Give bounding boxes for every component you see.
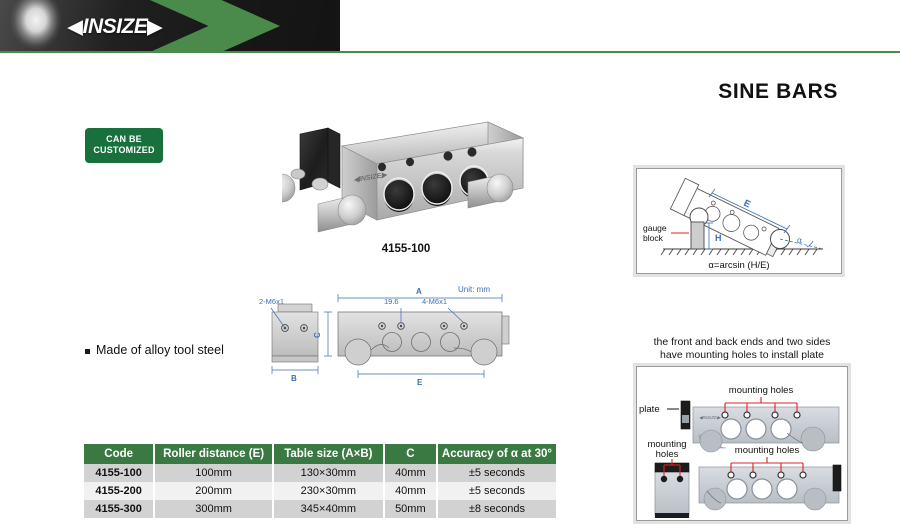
cell-c: 40mm (384, 464, 437, 482)
label-2-m6x1: 2-M6x1 (259, 297, 284, 306)
header-divider-rule (0, 51, 900, 53)
logo-right-arrow-icon: ▶ (147, 18, 162, 37)
label-19-6: 19.6 (384, 297, 399, 306)
product-photo-svg: ◀INSIZE▶ (282, 112, 530, 238)
table-row: 4155-100 100mm 130×30mm 40mm ±5 seconds (84, 464, 556, 482)
column-header-code: Code (84, 444, 154, 464)
cell-accuracy: ±5 seconds (437, 482, 556, 500)
cell-code: 4155-200 (84, 482, 154, 500)
panel-mounting-holes: mounting holes ◀INSIZE▶ plate mounting h… (636, 366, 848, 521)
plate-label: plate (639, 404, 660, 415)
badge-line-1: CAN BE (88, 134, 160, 145)
mounting-label-line2: holes (656, 449, 679, 460)
cell-code: 4155-100 (84, 464, 154, 482)
label-E-incline: E (742, 198, 753, 211)
cell-table-size: 345×40mm (273, 500, 384, 518)
principle-formula: α=arcsin (H/E) (708, 260, 769, 271)
cell-c: 50mm (384, 500, 437, 518)
cell-accuracy: ±5 seconds (437, 464, 556, 482)
technical-drawing: Unit: mm 2-M6x1 B (258, 282, 526, 390)
badge-line-2: CUSTOMIZED (88, 145, 160, 156)
svg-text:◀INSIZE▶: ◀INSIZE▶ (699, 415, 721, 420)
label-4-m6x1: 4-M6x1 (422, 297, 447, 306)
logo-wordmark: INSIZE (83, 15, 148, 39)
table-row: 4155-200 200mm 230×30mm 40mm ±5 seconds (84, 482, 556, 500)
panel-measuring-principle: gauge block H E α α=arcsin (H/E) (636, 168, 842, 274)
cell-c: 40mm (384, 482, 437, 500)
principle-diagram-svg: gauge block H E α α=arcsin (H/E) (637, 169, 841, 273)
mounting-caption-line-1: the front and back ends and two sides (654, 336, 831, 348)
bullet-square-icon (85, 349, 90, 354)
unit-label: Unit: mm (458, 285, 490, 294)
feature-text: Made of alloy tool steel (96, 343, 224, 357)
product-caption: 4155-100 (282, 243, 530, 255)
column-header-roller-distance: Roller distance (E) (154, 444, 273, 464)
page-header: ◀ INSIZE ▶ (0, 0, 900, 52)
label-alpha: α (797, 235, 802, 245)
mounting-caption: the front and back ends and two sides ha… (636, 336, 848, 362)
gauge-block-label-line1: gauge (643, 223, 667, 233)
mounting-caption-line-2: have mounting holes to install plate (660, 349, 824, 361)
label-B: B (291, 374, 297, 383)
specification-table: Code Roller distance (E) Table size (A×B… (84, 444, 556, 518)
gauge-block-label-line2: block (643, 233, 664, 243)
label-C: C (313, 332, 322, 338)
cell-roller-distance: 100mm (154, 464, 273, 482)
cell-table-size: 230×30mm (273, 482, 384, 500)
cell-accuracy: ±8 seconds (437, 500, 556, 518)
table-row: 4155-300 300mm 345×40mm 50mm ±8 seconds (84, 500, 556, 518)
can-be-customized-badge: CAN BE CUSTOMIZED (85, 128, 163, 163)
label-A: A (416, 287, 422, 296)
mounting-holes-label-bottom: mounting holes (735, 445, 800, 456)
cell-table-size: 130×30mm (273, 464, 384, 482)
cell-code: 4155-300 (84, 500, 154, 518)
logo-left-arrow-icon: ◀ (68, 18, 83, 37)
feature-item: Made of alloy tool steel (85, 343, 224, 357)
cell-roller-distance: 300mm (154, 500, 273, 518)
column-header-accuracy: Accuracy of α at 30° (437, 444, 556, 464)
label-H: H (715, 233, 722, 243)
column-header-table-size: Table size (A×B) (273, 444, 384, 464)
cell-roller-distance: 200mm (154, 482, 273, 500)
column-header-c: C (384, 444, 437, 464)
product-photo-sine-bar: ◀INSIZE▶ (282, 112, 530, 238)
insize-logo: ◀ INSIZE ▶ (50, 14, 180, 40)
page-title: SINE BARS (718, 80, 838, 104)
mounting-holes-label-top: mounting holes (729, 385, 794, 396)
mounting-diagram-svg: mounting holes ◀INSIZE▶ plate mounting h… (637, 367, 847, 520)
label-E: E (417, 378, 423, 387)
technical-drawing-svg: Unit: mm 2-M6x1 B (258, 282, 526, 390)
table-header-row: Code Roller distance (E) Table size (A×B… (84, 444, 556, 464)
